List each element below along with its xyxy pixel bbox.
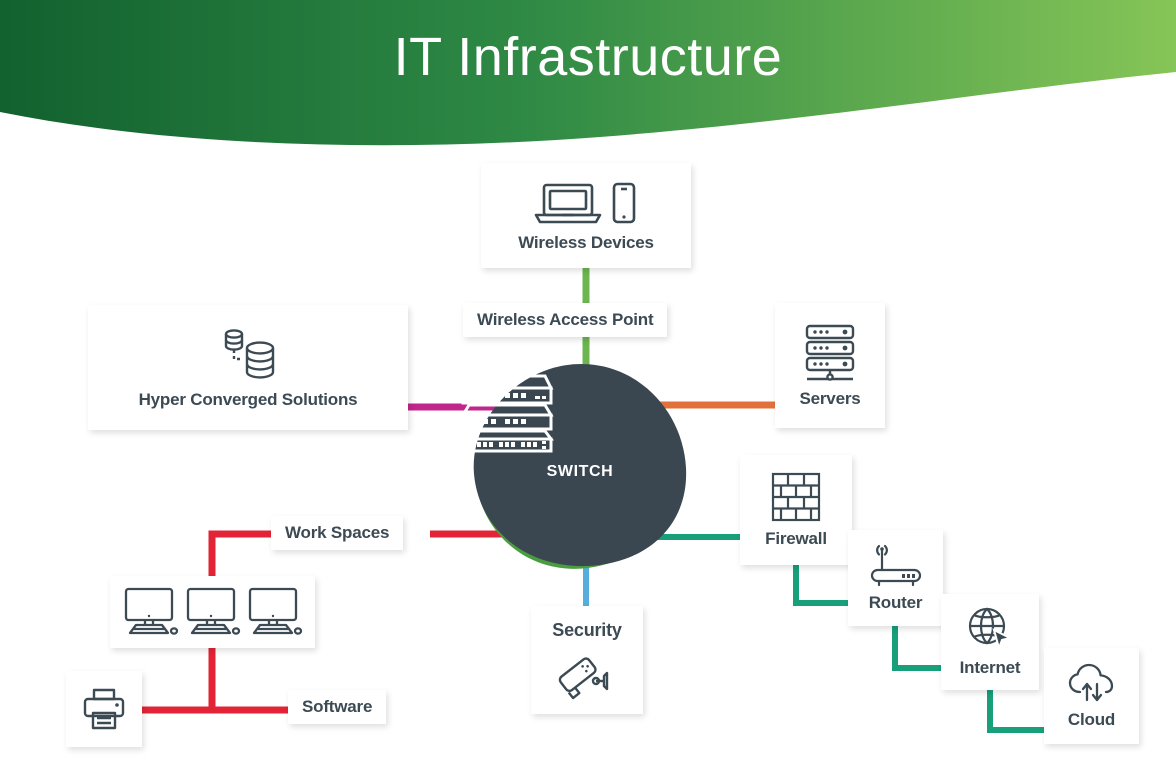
- node-card-cloud[interactable]: Cloud: [1044, 648, 1139, 744]
- node-card-hyper-converged-solutions[interactable]: Hyper Converged Solutions: [88, 305, 408, 430]
- cloud-sync-icon: [1066, 662, 1118, 704]
- server-rack-icon: [799, 323, 861, 383]
- desktop-monitor-icon: [250, 589, 301, 634]
- desktop-monitor-icon: [188, 589, 239, 634]
- database-stack-icon: [215, 326, 281, 384]
- printer-icon: [81, 687, 127, 731]
- node-card-printer[interactable]: [66, 671, 142, 747]
- node-card-monitors[interactable]: [110, 576, 315, 648]
- laptop-icon: [536, 185, 600, 222]
- node-label-work-spaces: Work Spaces: [285, 523, 389, 543]
- wireless-devices-icon-group: [530, 179, 642, 227]
- node-label-software: Software: [302, 697, 372, 717]
- desktop-monitor-icon: [126, 589, 177, 634]
- node-label-wireless-access-point: Wireless Access Point: [477, 310, 653, 330]
- node-card-internet[interactable]: Internet: [941, 594, 1039, 690]
- node-card-security[interactable]: Security: [531, 606, 643, 714]
- switch-label: SWITCH: [547, 463, 614, 481]
- node-card-wireless-devices[interactable]: Wireless Devices: [481, 163, 691, 268]
- node-card-servers[interactable]: Servers: [775, 303, 885, 428]
- switch-node[interactable]: SWITCH: [455, 358, 705, 573]
- brick-wall-icon: [770, 471, 822, 523]
- wifi-router-icon: [868, 543, 924, 587]
- node-label-router: Router: [869, 593, 923, 613]
- node-label-cloud: Cloud: [1068, 710, 1115, 730]
- node-label-servers: Servers: [800, 389, 861, 409]
- globe-cursor-icon: [966, 606, 1014, 652]
- node-card-router[interactable]: Router: [848, 530, 943, 626]
- node-card-firewall[interactable]: Firewall: [740, 455, 852, 565]
- node-label-wireless-devices: Wireless Devices: [518, 233, 654, 253]
- node-label-firewall: Firewall: [765, 529, 827, 549]
- smartphone-icon: [614, 184, 634, 222]
- node-label-security: Security: [552, 620, 621, 641]
- security-camera-icon: [555, 649, 619, 701]
- infrastructure-diagram: SWITCH Wireless Devices: [0, 0, 1176, 777]
- node-card-software[interactable]: Software: [288, 690, 386, 724]
- node-card-work-spaces[interactable]: Work Spaces: [271, 516, 403, 550]
- node-card-wireless-access-point[interactable]: Wireless Access Point: [463, 303, 667, 337]
- node-label-hyper-converged-solutions: Hyper Converged Solutions: [139, 390, 358, 410]
- desktop-monitors-icon-group: [122, 585, 304, 639]
- node-label-internet: Internet: [960, 658, 1021, 678]
